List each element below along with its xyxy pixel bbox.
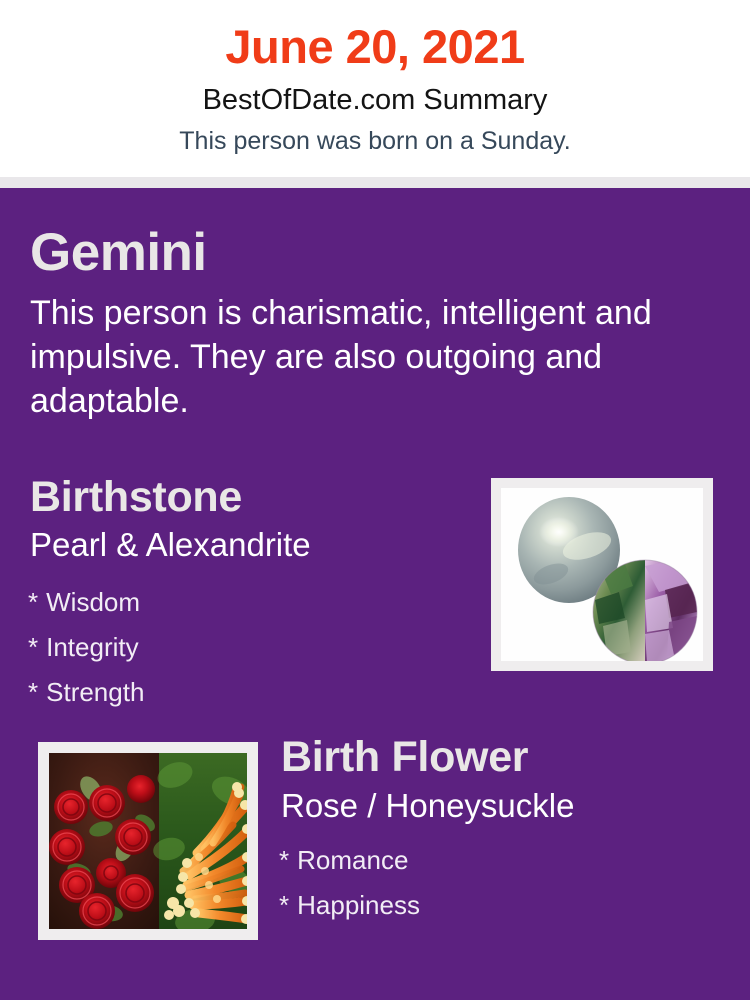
bullet-asterisk-icon: * <box>279 890 289 920</box>
list-item: *Romance <box>279 838 679 883</box>
birthstone-name: Pearl & Alexandrite <box>30 528 311 561</box>
bullet-asterisk-icon: * <box>279 845 289 875</box>
bullet-asterisk-icon: * <box>28 632 38 662</box>
list-item: *Strength <box>28 670 448 715</box>
list-item: *Wisdom <box>28 580 448 625</box>
bullet-asterisk-icon: * <box>28 677 38 707</box>
summary-header: June 20, 2021 BestOfDate.com Summary Thi… <box>0 0 750 177</box>
birthstone-traits-list: *Wisdom *Integrity *Strength <box>28 580 448 715</box>
list-item: *Happiness <box>279 883 679 928</box>
bullet-asterisk-icon: * <box>28 587 38 617</box>
header-divider <box>0 177 750 188</box>
list-item-label: Integrity <box>46 632 139 662</box>
birth-flower-name: Rose / Honeysuckle <box>281 789 574 822</box>
birthstone-heading: Birthstone <box>30 476 242 519</box>
birthstone-image <box>501 488 703 661</box>
birth-flower-photo-frame <box>38 742 258 940</box>
birth-flower-traits-list: *Romance *Happiness <box>279 838 679 928</box>
zodiac-sign-title: Gemini <box>30 226 207 279</box>
zodiac-description: This person is charismatic, intelligent … <box>30 291 702 424</box>
birth-flower-heading: Birth Flower <box>281 736 528 779</box>
page-title-date: June 20, 2021 <box>0 22 750 71</box>
site-name-subtitle: BestOfDate.com Summary <box>0 85 750 117</box>
born-day-text: This person was born on a Sunday. <box>0 128 750 156</box>
birth-flower-image <box>49 753 247 929</box>
list-item-label: Strength <box>46 677 144 707</box>
summary-body-panel: Gemini This person is charismatic, intel… <box>0 188 750 1000</box>
birthstone-photo-frame <box>491 478 713 671</box>
list-item-label: Wisdom <box>46 587 140 617</box>
list-item-label: Happiness <box>297 890 420 920</box>
list-item: *Integrity <box>28 625 448 670</box>
list-item-label: Romance <box>297 845 408 875</box>
